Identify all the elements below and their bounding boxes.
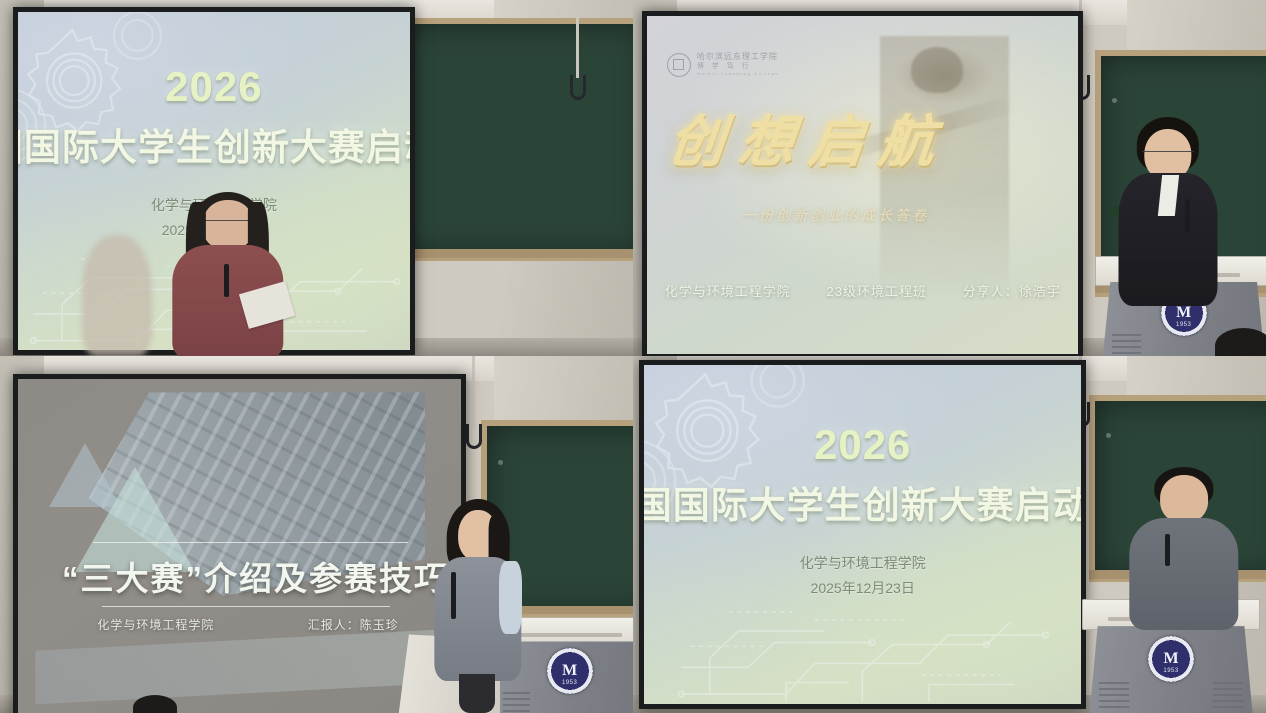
seal-icon (667, 53, 691, 77)
projection-screen: 2026 中国国际大学生创新大赛启动会 化学与环境工程学院 2025年12月23… (644, 365, 1081, 704)
school-name-cn: 哈尔滨远东理工学院 (697, 53, 779, 61)
emblem-year: 1953 (562, 680, 577, 686)
vent-grille (1112, 334, 1141, 356)
university-emblem: M 1953 (1148, 636, 1194, 682)
shirt-sleeve (499, 561, 522, 634)
divider-line (93, 542, 408, 543)
speaker-host (165, 192, 292, 356)
head (203, 200, 254, 249)
slide-gold-calligraphy: 哈尔滨远东理工学院 博 学 笃 行 Harbin Yuandong Colleg… (647, 16, 1077, 354)
footer-class: 23级环境工程班 (826, 281, 926, 300)
slide-main-title: 中国国际大学生创新大赛启动会 (644, 475, 1081, 529)
microphone-icon (1165, 534, 1170, 566)
footer-org: 化学与环境工程学院 (665, 281, 791, 300)
emblem-letter: M (1163, 651, 1178, 667)
footer-org: 化学与环境工程学院 (97, 616, 214, 633)
projection-screen: “三大赛”介绍及参赛技巧 化学与环境工程学院 汇报人：陈玉珍 (18, 379, 461, 713)
slide-organization: 化学与环境工程学院 (800, 551, 926, 576)
slide-main-title: “三大赛”介绍及参赛技巧 (62, 552, 449, 600)
panel-bottom-left[interactable]: “三大赛”介绍及参赛技巧 化学与环境工程学院 汇报人：陈玉珍 M 1953 (0, 356, 633, 713)
divider-line (102, 606, 390, 607)
photo-collage: 2026 中国国际大学生创新大赛启动会 化学与环境工程学院 2025年12月23… (0, 0, 1266, 713)
footer-presenter: 分享人：徐浩宇 (963, 281, 1061, 300)
university-emblem: M 1953 (547, 648, 593, 694)
projector-hook-icon (570, 75, 586, 100)
school-name-en: Harbin Yuandong College (697, 72, 779, 76)
legs (459, 674, 495, 713)
slide-footer-row: 化学与环境工程学院 23级环境工程班 分享人：徐浩宇 (665, 281, 1061, 300)
projector-hook-icon (466, 424, 482, 449)
projector-arm (472, 356, 475, 427)
slide-footer-row: 化学与环境工程学院 汇报人：陈玉珍 (97, 616, 398, 633)
school-logo: 哈尔滨远东理工学院 博 学 笃 行 Harbin Yuandong Colleg… (667, 53, 779, 77)
vent-grille (1213, 682, 1242, 708)
slide-three-contests: “三大赛”介绍及参赛技巧 化学与环境工程学院 汇报人：陈玉珍 (18, 379, 461, 713)
slide-year: 2026 (165, 63, 262, 111)
slide-date: 2025年12月23日 (800, 576, 926, 601)
projector-arm (576, 0, 579, 78)
slide-gold-subtitle: 一份创新创业的成长答卷 (742, 205, 929, 225)
slide-main-title: 中国国际大学生创新大赛启动会 (18, 117, 410, 171)
vent-grille (1099, 682, 1128, 708)
emblem-letter: M (1176, 305, 1191, 321)
projection-screen-frame: 哈尔滨远东理工学院 博 学 笃 行 Harbin Yuandong Colleg… (642, 11, 1082, 356)
chalk-tray (386, 249, 633, 258)
panel-top-right[interactable]: 哈尔滨远东理工学院 博 学 笃 行 Harbin Yuandong Colleg… (633, 0, 1266, 356)
projection-screen-frame: “三大赛”介绍及参赛技巧 化学与环境工程学院 汇报人：陈玉珍 (13, 374, 466, 713)
emblem-letter: M (562, 663, 577, 679)
audience-silhouette (82, 235, 152, 356)
slide-gold-title: 创想启航 (665, 97, 992, 178)
panel-top-left[interactable]: 2026 中国国际大学生创新大赛启动会 化学与环境工程学院 2025年12月23… (0, 0, 633, 356)
torso-sweater (1129, 518, 1238, 630)
speaker-student (1114, 117, 1222, 302)
slide-year: 2026 (814, 421, 911, 469)
speaker-presenter (430, 499, 525, 713)
clicker-icon (1110, 206, 1119, 217)
microphone-icon (451, 572, 456, 619)
blackboard (386, 18, 633, 261)
head (1160, 475, 1208, 523)
projection-screen: 哈尔滨远东理工学院 博 学 笃 行 Harbin Yuandong Colleg… (647, 16, 1077, 354)
slide-launch-title: 2026 中国国际大学生创新大赛启动会 化学与环境工程学院 2025年12月23… (644, 365, 1081, 704)
panel-bottom-right[interactable]: 2026 中国国际大学生创新大赛启动会 化学与环境工程学院 2025年12月23… (633, 356, 1266, 713)
microphone-icon (1185, 199, 1190, 232)
emblem-year: 1953 (1176, 322, 1191, 328)
school-motto: 博 学 笃 行 (697, 63, 779, 70)
band-decoration (35, 630, 434, 705)
projection-screen-frame: 2026 中国国际大学生创新大赛启动会 化学与环境工程学院 2025年12月23… (639, 360, 1086, 709)
audience-head (133, 695, 177, 713)
podium-body: M 1953 (1090, 626, 1253, 713)
emblem-year: 1953 (1163, 668, 1178, 674)
footer-presenter: 汇报人：陈玉珍 (308, 616, 399, 633)
glasses-icon (1142, 151, 1194, 155)
speaker-teacher (1127, 467, 1241, 628)
microphone-icon (224, 264, 229, 297)
